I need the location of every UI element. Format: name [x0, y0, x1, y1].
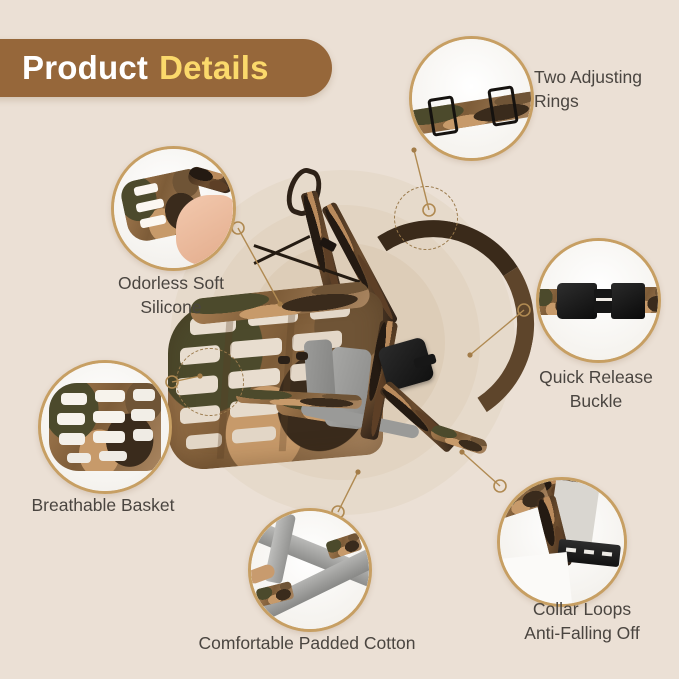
- inset-odorless-soft-silicone[interactable]: [111, 146, 236, 271]
- inset-image-comfortable-padded-cotton: [251, 511, 369, 629]
- inset-breathable-basket[interactable]: [38, 360, 172, 494]
- basket-highlight-dashed: [176, 348, 244, 416]
- label-collar-loops: Collar Loops Anti-Falling Off: [492, 598, 672, 645]
- page-title: ProductDetails: [22, 49, 269, 87]
- title-word-details: Details: [159, 49, 269, 86]
- basket-eyelet-right: [296, 352, 308, 360]
- label-quick-release-buckle: Quick Release Buckle: [516, 366, 676, 413]
- inset-image-two-adjusting-rings: [412, 39, 531, 158]
- label-odorless-soft-silicone: Odorless Soft Silicone: [90, 272, 252, 319]
- label-breathable-basket: Breathable Basket: [12, 494, 194, 518]
- inset-collar-loops[interactable]: [497, 477, 627, 607]
- inset-image-breathable-basket: [41, 363, 169, 491]
- inset-image-odorless-soft-silicone: [114, 149, 233, 268]
- infographic-canvas: Two Adjusting Rings Odorless Soft Silico…: [0, 0, 679, 679]
- rings-highlight-dashed: [394, 186, 458, 250]
- inset-comfortable-padded-cotton[interactable]: [248, 508, 372, 632]
- inset-image-quick-release-buckle: [539, 241, 658, 360]
- basket-eyelet-left: [278, 356, 290, 364]
- label-comfortable-padded-cotton: Comfortable Padded Cotton: [176, 632, 438, 656]
- inset-quick-release-buckle[interactable]: [536, 238, 661, 363]
- title-word-product: Product: [22, 49, 148, 86]
- tail-strap-end: [429, 423, 489, 455]
- label-two-adjusting-rings: Two Adjusting Rings: [534, 66, 679, 113]
- inset-image-collar-loops: [500, 480, 624, 604]
- inset-two-adjusting-rings[interactable]: [409, 36, 534, 161]
- title-banner: ProductDetails: [0, 39, 332, 97]
